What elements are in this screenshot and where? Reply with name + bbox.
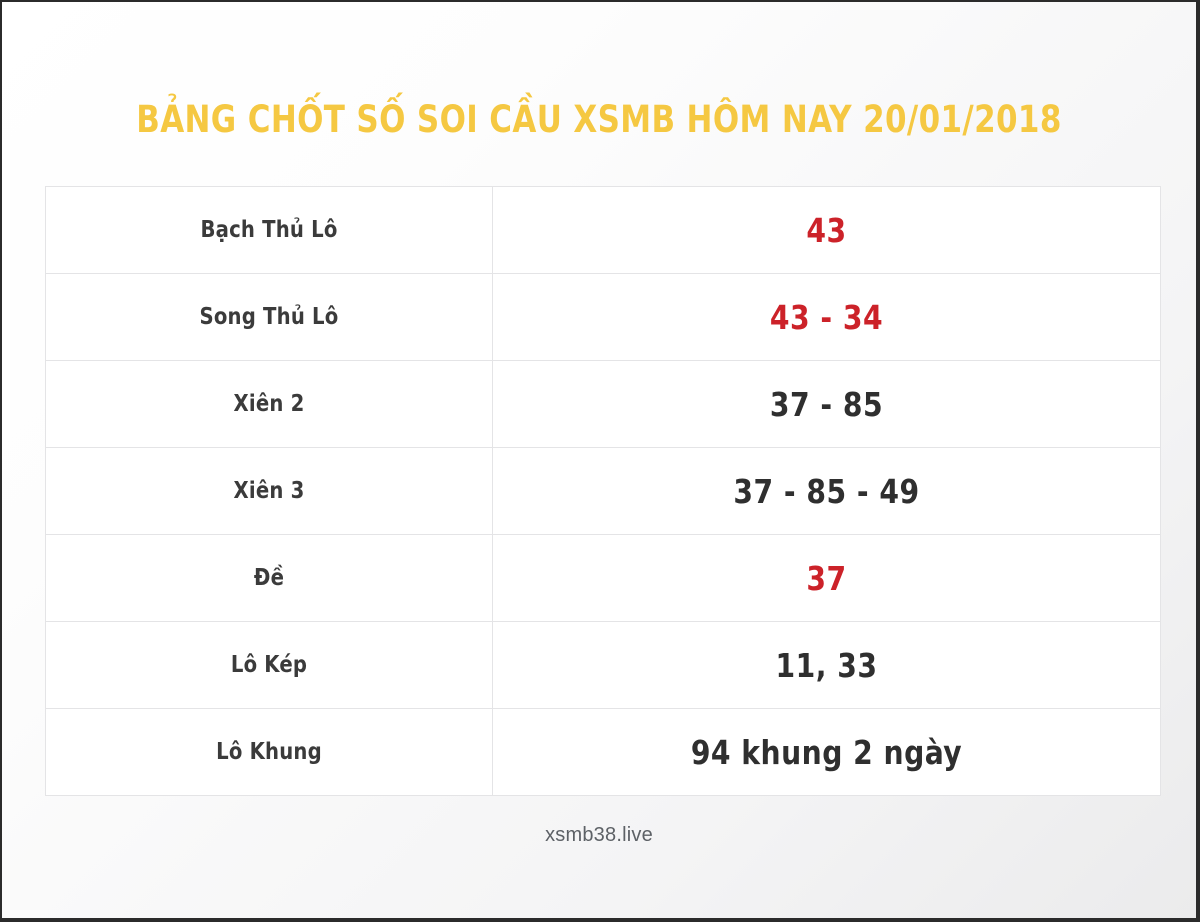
table-row: Bạch Thủ Lô 43 — [46, 187, 1161, 274]
row-label: Bạch Thủ Lô — [57, 217, 481, 243]
row-label: Lô Khung — [57, 739, 481, 765]
lottery-prediction-table: Bạch Thủ Lô 43 Song Thủ Lô 43 - 34 Xiên … — [45, 186, 1161, 796]
row-value: 43 — [510, 211, 1144, 250]
row-label: Lô Kép — [57, 652, 481, 678]
row-value: 94 khung 2 ngày — [510, 733, 1144, 772]
row-value-cell: 11, 33 — [493, 622, 1161, 709]
table-row: Xiên 3 37 - 85 - 49 — [46, 448, 1161, 535]
row-value-cell: 37 — [493, 535, 1161, 622]
row-label-cell: Lô Khung — [46, 709, 493, 796]
row-label: Xiên 2 — [57, 391, 481, 417]
row-value-cell: 37 - 85 - 49 — [493, 448, 1161, 535]
row-value-cell: 94 khung 2 ngày — [493, 709, 1161, 796]
row-label-cell: Song Thủ Lô — [46, 274, 493, 361]
page-canvas: BẢNG CHỐT SỐ SOI CẦU XSMB HÔM NAY 20/01/… — [2, 2, 1196, 918]
row-label: Song Thủ Lô — [57, 304, 481, 330]
table-row: Xiên 2 37 - 85 — [46, 361, 1161, 448]
row-label-cell: Đề — [46, 535, 493, 622]
site-watermark: xsmb38.live — [2, 824, 1196, 847]
row-value-cell: 37 - 85 — [493, 361, 1161, 448]
table-body: Bạch Thủ Lô 43 Song Thủ Lô 43 - 34 Xiên … — [46, 187, 1161, 796]
row-value: 43 - 34 — [510, 298, 1144, 337]
row-label-cell: Xiên 3 — [46, 448, 493, 535]
row-value-cell: 43 — [493, 187, 1161, 274]
page-title: BẢNG CHỐT SỐ SOI CẦU XSMB HÔM NAY 20/01/… — [44, 98, 1154, 141]
row-label-cell: Lô Kép — [46, 622, 493, 709]
row-label: Xiên 3 — [57, 478, 481, 504]
table-row: Lô Khung 94 khung 2 ngày — [46, 709, 1161, 796]
table-row: Đề 37 — [46, 535, 1161, 622]
table-row: Lô Kép 11, 33 — [46, 622, 1161, 709]
row-value: 37 — [510, 559, 1144, 598]
row-value: 37 - 85 — [510, 385, 1144, 424]
row-value-cell: 43 - 34 — [493, 274, 1161, 361]
row-label: Đề — [57, 565, 481, 591]
table-row: Song Thủ Lô 43 - 34 — [46, 274, 1161, 361]
row-value: 37 - 85 - 49 — [510, 472, 1144, 511]
row-value: 11, 33 — [510, 646, 1144, 685]
row-label-cell: Bạch Thủ Lô — [46, 187, 493, 274]
row-label-cell: Xiên 2 — [46, 361, 493, 448]
